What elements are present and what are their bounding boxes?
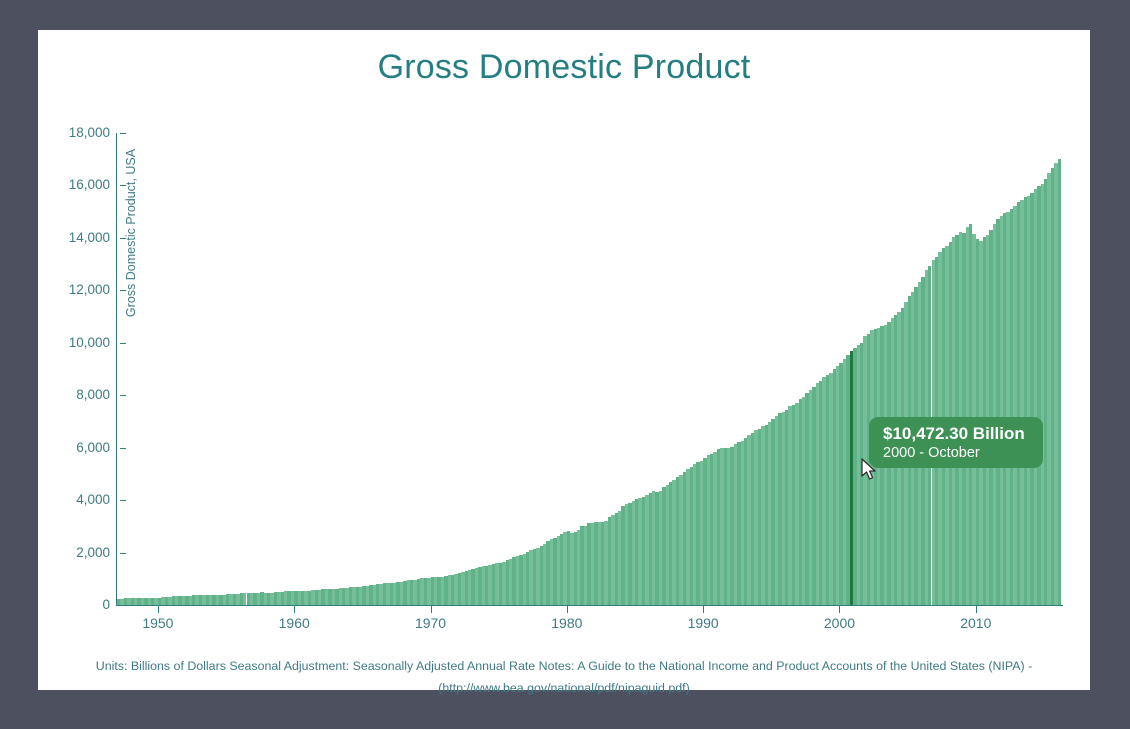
bar[interactable] [1058,159,1061,605]
x-tick-label: 1970 [396,615,466,631]
y-tick-label: 0 [48,597,110,612]
x-tick-mark [431,606,432,613]
x-tick-mark [294,606,295,613]
tooltip-value: $10,472.30 Billion [883,423,1043,444]
app-root: Gross Domestic Product Gross Domestic Pr… [0,0,1130,729]
footer-note-line1: Units: Billions of Dollars Seasonal Adju… [96,659,1032,673]
data-tooltip: $10,472.30 Billion 2000 - October [869,417,1043,468]
x-tick-label: 1980 [532,615,602,631]
footer-note: Units: Billions of Dollars Seasonal Adju… [64,655,1064,699]
plot-area: Gross Domestic Product, USA 18,00016,000… [38,30,1090,640]
x-tick-label: 1990 [668,615,738,631]
x-tick-mark [976,606,977,613]
x-tick-mark [158,606,159,613]
x-tick-label: 2000 [804,615,874,631]
y-tick-label: 16,000 [48,177,110,192]
x-axis-spine [116,605,1063,606]
x-tick-mark [703,606,704,613]
y-axis-ticks: 18,00016,00014,00012,00010,0008,0006,000… [48,30,110,640]
y-tick-label: 6,000 [48,440,110,455]
x-tick-mark [567,606,568,613]
footer-note-line2: (http://www.bea.gov/national/pdf/nipagui… [438,681,689,695]
tooltip-period: 2000 - October [883,444,1043,463]
x-tick-mark [839,606,840,613]
chart-panel: Gross Domestic Product Gross Domestic Pr… [38,30,1090,690]
y-tick-label: 4,000 [48,492,110,507]
y-tick-label: 18,000 [48,125,110,140]
x-tick-label: 2010 [941,615,1011,631]
y-tick-label: 10,000 [48,335,110,350]
bar-series[interactable] [117,133,1061,605]
x-tick-label: 1950 [123,615,193,631]
y-tick-label: 2,000 [48,545,110,560]
y-tick-label: 8,000 [48,387,110,402]
y-axis-title: Gross Domestic Product, USA [124,0,140,103]
y-tick-label: 14,000 [48,230,110,245]
y-tick-label: 12,000 [48,282,110,297]
x-tick-label: 1960 [259,615,329,631]
